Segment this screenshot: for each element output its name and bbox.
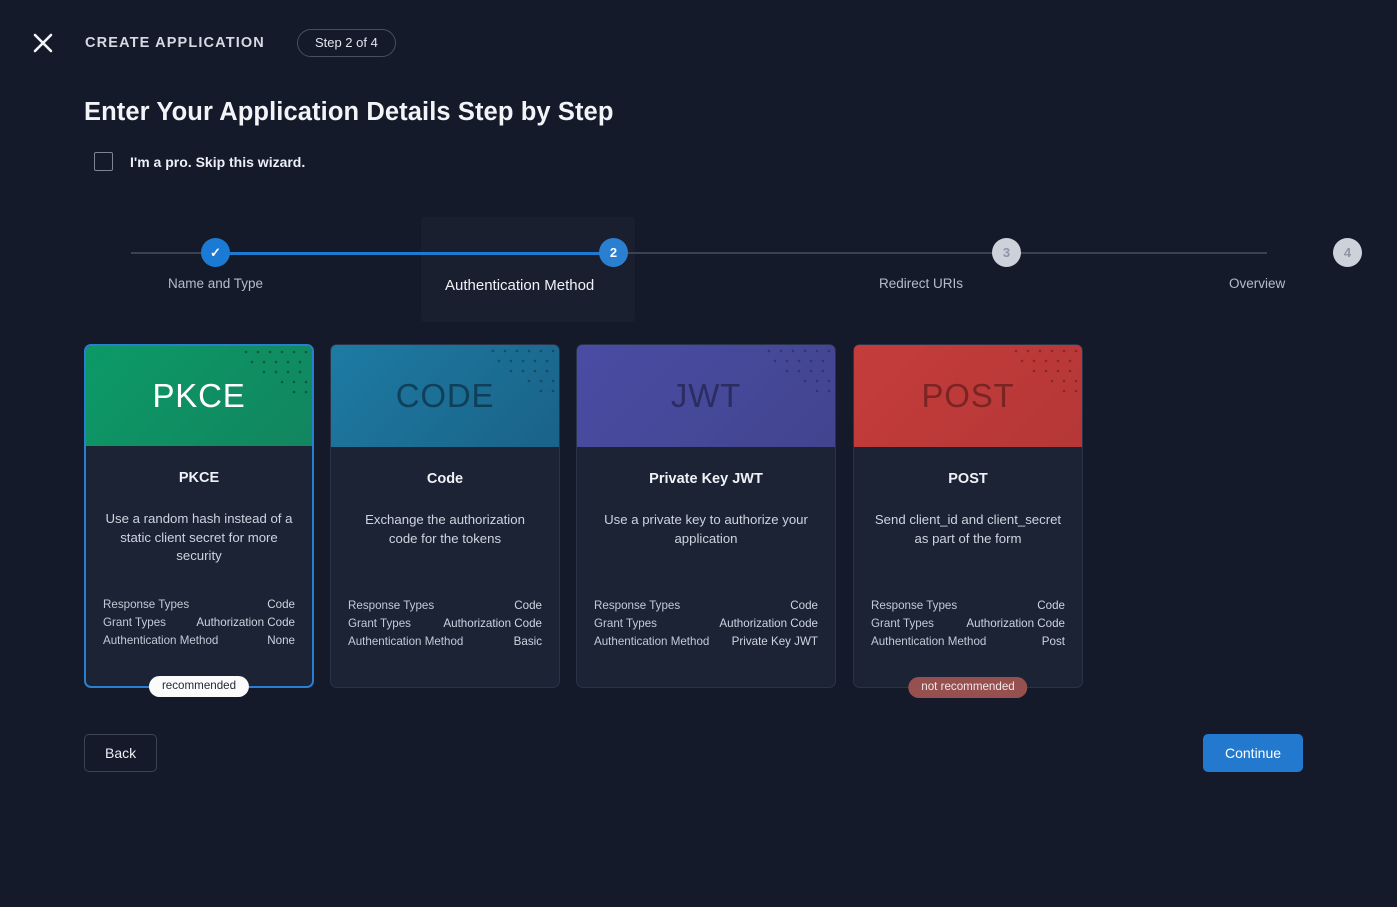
attr-label: Authentication Method <box>594 633 709 651</box>
card-title-post: POST <box>868 471 1068 487</box>
card-description-post: Send client_id and client_secret as part… <box>872 511 1064 548</box>
attr-value: Code <box>267 596 295 614</box>
dot-pattern-icon <box>1004 345 1082 415</box>
attr-value: Authorization Code <box>966 615 1065 633</box>
attr-row-response-types: Response Types Code <box>103 596 295 614</box>
attr-label: Grant Types <box>871 615 934 633</box>
attr-row-response-types: Response Types Code <box>348 597 542 615</box>
stepper-node-4[interactable]: 4 <box>1333 238 1362 267</box>
card-banner-code: CODE <box>331 345 559 447</box>
attr-row-grant-types: Grant Types Authorization Code <box>348 615 542 633</box>
stepper-label-2[interactable]: Authentication Method <box>445 277 594 294</box>
attr-label: Response Types <box>594 597 680 615</box>
attr-row-response-types: Response Types Code <box>594 597 818 615</box>
attr-row-response-types: Response Types Code <box>871 597 1065 615</box>
attr-value: Private Key JWT <box>732 633 818 651</box>
card-banner-text-jwt: JWT <box>671 377 741 415</box>
card-banner-jwt: JWT <box>577 345 835 447</box>
attr-row-grant-types: Grant Types Authorization Code <box>871 615 1065 633</box>
dot-pattern-icon <box>757 345 835 415</box>
stepper-node-3[interactable]: 3 <box>992 238 1021 267</box>
wizard-stepper: ✓ Name and Type 2 Authentication Method … <box>84 238 1314 318</box>
step-badge: Step 2 of 4 <box>297 29 396 57</box>
attr-label: Grant Types <box>103 614 166 632</box>
auth-method-card-jwt[interactable]: JWT Private Key JWT Use a private key to… <box>576 344 836 688</box>
auth-method-card-list: PKCE PKCE Use a random hash instead of a… <box>84 344 1084 692</box>
card-title-pkce: PKCE <box>100 470 298 486</box>
card-body-code: Code Exchange the authorization code for… <box>331 447 559 548</box>
attr-value: Authorization Code <box>196 614 295 632</box>
attr-row-auth-method: Authentication Method Private Key JWT <box>594 633 818 651</box>
skip-wizard-checkbox[interactable] <box>94 152 113 171</box>
card-banner-post: POST <box>854 345 1082 447</box>
stepper-node-2-num: 2 <box>610 245 617 260</box>
attr-row-auth-method: Authentication Method None <box>103 632 295 650</box>
auth-method-card-pkce[interactable]: PKCE PKCE Use a random hash instead of a… <box>84 344 314 688</box>
card-body-post: POST Send client_id and client_secret as… <box>854 447 1082 548</box>
attr-value: None <box>267 632 295 650</box>
attr-value: Authorization Code <box>443 615 542 633</box>
auth-method-card-post[interactable]: POST POST Send client_id and client_secr… <box>853 344 1083 688</box>
card-body-jwt: Private Key JWT Use a private key to aut… <box>577 447 835 548</box>
card-banner-text-post: POST <box>921 377 1014 415</box>
skip-wizard-label: I'm a pro. Skip this wizard. <box>130 154 305 170</box>
card-banner-text-code: CODE <box>396 377 495 415</box>
card-attributes-post: Response Types Code Grant Types Authoriz… <box>871 597 1065 651</box>
close-icon-glyph <box>32 32 54 54</box>
stepper-label-4[interactable]: Overview <box>1229 276 1285 291</box>
attr-value: Code <box>514 597 542 615</box>
attr-row-grant-types: Grant Types Authorization Code <box>103 614 295 632</box>
attr-value: Code <box>790 597 818 615</box>
card-banner-text-pkce: PKCE <box>152 377 245 415</box>
attr-label: Authentication Method <box>871 633 986 651</box>
card-body-pkce: PKCE Use a random hash instead of a stat… <box>86 446 312 566</box>
stepper-label-3[interactable]: Redirect URIs <box>879 276 963 291</box>
stepper-node-4-num: 4 <box>1344 245 1351 260</box>
breadcrumb: CREATE APPLICATION <box>85 35 265 51</box>
attr-row-auth-method: Authentication Method Post <box>871 633 1065 651</box>
card-banner-pkce: PKCE <box>86 346 312 446</box>
wizard-topbar: CREATE APPLICATION Step 2 of 4 <box>0 0 1397 86</box>
card-attributes-pkce: Response Types Code Grant Types Authoriz… <box>103 596 295 650</box>
skip-wizard-row[interactable]: I'm a pro. Skip this wizard. <box>94 152 305 171</box>
stepper-node-1-num: ✓ <box>210 245 221 261</box>
card-description-pkce: Use a random hash instead of a static cl… <box>104 510 294 566</box>
stepper-node-1[interactable]: ✓ <box>201 238 230 267</box>
attr-label: Response Types <box>348 597 434 615</box>
card-attributes-code: Response Types Code Grant Types Authoriz… <box>348 597 542 651</box>
attr-label: Response Types <box>103 596 189 614</box>
auth-method-card-code[interactable]: CODE Code Exchange the authorization cod… <box>330 344 560 688</box>
attr-row-grant-types: Grant Types Authorization Code <box>594 615 818 633</box>
attr-label: Grant Types <box>348 615 411 633</box>
attr-label: Response Types <box>871 597 957 615</box>
attr-value: Basic <box>514 633 542 651</box>
card-description-code: Exchange the authorization code for the … <box>349 511 541 548</box>
status-badge-recommended: recommended <box>149 676 249 697</box>
card-title-code: Code <box>345 471 545 487</box>
attr-label: Authentication Method <box>103 632 218 650</box>
stepper-node-2[interactable]: 2 <box>599 238 628 267</box>
card-attributes-jwt: Response Types Code Grant Types Authoriz… <box>594 597 818 651</box>
stepper-label-1[interactable]: Name and Type <box>168 276 263 291</box>
create-application-wizard: CREATE APPLICATION Step 2 of 4 Enter You… <box>0 0 1397 907</box>
continue-button[interactable]: Continue <box>1203 734 1303 772</box>
status-badge-not-recommended: not recommended <box>908 677 1027 698</box>
stepper-track-completed <box>215 252 613 255</box>
page-title: Enter Your Application Details Step by S… <box>84 98 614 127</box>
card-description-jwt: Use a private key to authorize your appl… <box>595 511 817 548</box>
attr-row-auth-method: Authentication Method Basic <box>348 633 542 651</box>
attr-label: Authentication Method <box>348 633 463 651</box>
attr-value: Code <box>1037 597 1065 615</box>
attr-label: Grant Types <box>594 615 657 633</box>
back-button[interactable]: Back <box>84 734 157 772</box>
close-icon[interactable] <box>26 26 60 60</box>
dot-pattern-icon <box>234 346 312 416</box>
attr-value: Post <box>1042 633 1065 651</box>
card-title-jwt: Private Key JWT <box>591 471 821 487</box>
stepper-node-3-num: 3 <box>1003 245 1010 260</box>
attr-value: Authorization Code <box>719 615 818 633</box>
